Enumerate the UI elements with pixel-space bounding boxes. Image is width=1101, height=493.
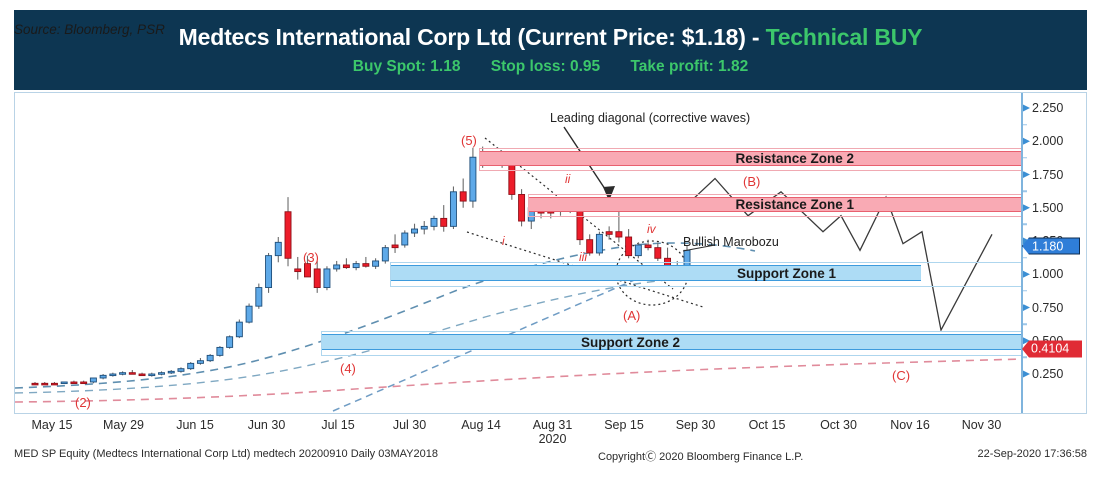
candle-body	[275, 242, 281, 255]
stop-loss-label: Stop loss: 0.95	[491, 58, 600, 75]
date-tick-label: Nov 16	[890, 418, 930, 432]
candle-body	[100, 375, 106, 378]
candle-body	[227, 337, 233, 348]
wave-label-3: (3)	[303, 250, 319, 265]
price-tick-minor	[1023, 190, 1027, 192]
price-tick-arrow	[1023, 204, 1030, 211]
candle-body	[178, 369, 184, 372]
price-tick-minor	[1023, 357, 1027, 359]
date-tick-label: Aug 312020	[533, 418, 573, 446]
candle-body	[188, 363, 194, 368]
candle-body	[158, 373, 164, 375]
candle-body	[120, 373, 126, 375]
candle-body	[71, 382, 77, 384]
date-tick-label: Aug 14	[461, 418, 501, 432]
candle-body	[470, 157, 476, 201]
wave-label-4: (4)	[340, 361, 356, 376]
date-tick-label: May 29	[103, 418, 144, 432]
support-zone-1-outline	[390, 262, 1023, 287]
price-tick-label: 2.250	[1032, 101, 1063, 115]
wave-label-B: (B)	[743, 174, 760, 189]
security-descriptor: MED SP Equity (Medtecs International Cor…	[14, 448, 438, 460]
price-axis: 0.2500.5000.7501.0001.2501.5001.7502.000…	[1021, 93, 1086, 413]
price-tick-label: 1.750	[1032, 168, 1063, 182]
price-series-svg	[15, 93, 1023, 413]
support-zone-2-outline	[321, 331, 1023, 356]
candle-body	[343, 265, 349, 268]
candle-body	[450, 192, 456, 227]
candle-body	[304, 264, 310, 277]
price-tick-minor	[1023, 124, 1027, 126]
take-profit-label: Take profit: 1.82	[630, 58, 748, 75]
candle-body	[81, 382, 87, 384]
date-axis-year: 2020	[533, 432, 573, 446]
wave-label-A: (A)	[623, 308, 640, 323]
date-tick-label: Jul 15	[321, 418, 354, 432]
chart-plot-area: Resistance Zone 2 Resistance Zone 1 Supp…	[15, 93, 1023, 413]
wave-label-5: (5)	[461, 133, 477, 148]
chart-footer: MED SP Equity (Medtecs International Cor…	[0, 448, 1101, 493]
date-tick-label: Oct 15	[749, 418, 786, 432]
title-main-text: Medtecs International Corp Ltd (Current …	[179, 24, 766, 50]
candle-body	[460, 192, 466, 201]
ma-slow-line	[15, 359, 1023, 402]
candle-body	[334, 265, 340, 269]
date-tick-label: Nov 30	[962, 418, 1002, 432]
page-title: Medtecs International Corp Ltd (Current …	[14, 23, 1087, 51]
candle-body	[441, 218, 447, 226]
candle-body	[421, 226, 427, 229]
candle-body	[129, 373, 135, 375]
source-note: Source: Bloomberg, PSR	[14, 22, 165, 37]
wave-label-2: (2)	[75, 395, 91, 410]
bullish-marobozu-annotation: Bullish Marobozu	[683, 235, 779, 249]
candle-body	[197, 361, 203, 364]
screenshot-root: Medtecs International Corp Ltd (Current …	[0, 0, 1101, 493]
candle-body	[363, 264, 369, 267]
subwave-label-i: i	[502, 234, 505, 248]
leading-diagonal-annotation: Leading diagonal (corrective waves)	[550, 111, 750, 125]
candle-body	[596, 234, 602, 253]
price-tick-minor	[1023, 157, 1027, 159]
candle-body	[61, 382, 67, 384]
subwave-label-ii: ii	[565, 172, 570, 186]
date-tick-label: Sep 15	[604, 418, 644, 432]
candle-body	[382, 248, 388, 261]
candle-body	[324, 269, 330, 288]
candle-body	[246, 306, 252, 322]
candle-body	[110, 374, 116, 376]
date-axis: May 15May 29Jun 15Jun 30Jul 15Jul 30Aug …	[14, 416, 1087, 450]
resistance-zone-1-outline	[528, 194, 1023, 217]
trade-parameters: Buy Spot: 1.18 Stop loss: 0.95 Take prof…	[14, 58, 1087, 76]
candle-body	[266, 256, 272, 288]
subwave-label-iii: iii	[579, 250, 587, 264]
candle-body	[90, 378, 96, 382]
date-tick-label: Jun 15	[176, 418, 214, 432]
price-tick-label: 0.250	[1032, 367, 1063, 381]
candle-body	[149, 374, 155, 376]
resistance-zone-2-outline	[479, 148, 1023, 171]
date-tick-label: Jun 30	[248, 418, 286, 432]
candle-body	[373, 261, 379, 266]
date-tick-label: Jul 30	[393, 418, 426, 432]
price-tick-label: 2.000	[1032, 134, 1063, 148]
candle-body	[139, 374, 145, 376]
price-tick-arrow	[1023, 138, 1030, 145]
price-tick-label: 0.750	[1032, 301, 1063, 315]
candle-body	[295, 269, 301, 272]
candle-body	[32, 383, 38, 385]
last-price-badge: 1.180	[1022, 238, 1080, 255]
candle-body	[402, 233, 408, 245]
timestamp: 22-Sep-2020 17:36:58	[978, 448, 1087, 460]
date-tick-label: May 15	[32, 418, 73, 432]
candle-body	[236, 322, 242, 337]
candle-body	[616, 232, 622, 237]
candle-body	[207, 355, 213, 360]
date-tick-label: Oct 30	[820, 418, 857, 432]
candle-body	[168, 371, 174, 373]
chart-frame: Resistance Zone 2 Resistance Zone 1 Supp…	[14, 92, 1087, 414]
candle-body	[587, 240, 593, 253]
candle-body	[635, 245, 641, 256]
low-price-badge: 0.4104	[1022, 341, 1082, 358]
candle-body	[645, 245, 651, 248]
candle-body	[626, 237, 632, 256]
candle-body	[431, 218, 437, 226]
candle-body	[256, 288, 262, 307]
title-signal-text: Technical BUY	[766, 24, 923, 50]
date-tick-label: Sep 30	[676, 418, 716, 432]
price-tick-arrow	[1023, 371, 1030, 378]
wave-label-C: (C)	[892, 368, 910, 383]
candle-body	[519, 194, 525, 221]
price-tick-arrow	[1023, 105, 1030, 112]
candle-body	[285, 212, 291, 259]
candle-body	[353, 264, 359, 268]
header-banner: Medtecs International Corp Ltd (Current …	[14, 10, 1087, 90]
candle-body	[606, 232, 612, 235]
price-tick-minor	[1023, 257, 1027, 259]
price-tick-arrow	[1023, 304, 1030, 311]
candle-body	[51, 383, 57, 385]
candle-body	[392, 245, 398, 248]
buy-spot-label: Buy Spot: 1.18	[353, 58, 461, 75]
price-tick-label: 1.500	[1032, 201, 1063, 215]
price-tick-minor	[1023, 290, 1027, 292]
price-tick-arrow	[1023, 271, 1030, 278]
candle-body	[655, 248, 661, 259]
price-tick-label: 1.000	[1032, 267, 1063, 281]
price-tick-arrow	[1023, 171, 1030, 178]
subwave-label-iv: iv	[647, 222, 656, 236]
price-tick-minor	[1023, 224, 1027, 226]
price-tick-minor	[1023, 323, 1027, 325]
candle-body	[412, 229, 418, 233]
candle-body	[217, 347, 223, 355]
copyright-notice: CopyrightⒸ 2020 Bloomberg Finance L.P.	[598, 448, 803, 464]
candle-body	[314, 269, 320, 288]
candle-body	[42, 383, 48, 385]
